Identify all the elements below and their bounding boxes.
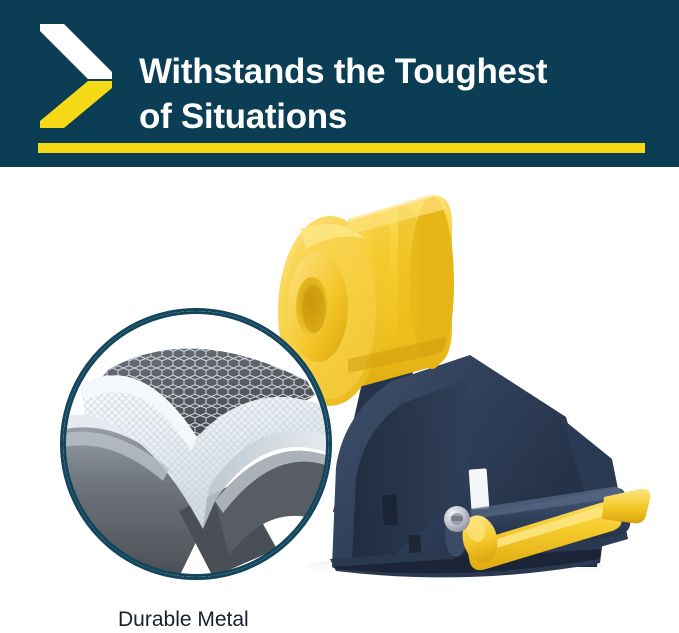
product-stage: Durable Metal xyxy=(0,167,679,633)
page-title-line-1: Withstands the Toughest xyxy=(139,49,659,94)
durable-metal-callout xyxy=(60,308,332,580)
frame-slot-2 xyxy=(382,495,398,526)
callout-caption: Durable Metal xyxy=(118,607,249,633)
chevron-lower-stroke xyxy=(40,81,112,128)
header-banner: Withstands the Toughest of Situations xyxy=(0,0,679,167)
chevron-upper-stroke xyxy=(40,24,112,79)
hub-rib-1 xyxy=(398,206,418,361)
banner-accent-rule xyxy=(38,143,645,153)
page-title: Withstands the Toughest of Situations xyxy=(139,49,659,139)
frame-slot-1 xyxy=(469,468,490,509)
chevron-logo-icon xyxy=(38,22,116,130)
hub-centre-hole-shadow xyxy=(302,285,326,333)
page-title-line-2: of Situations xyxy=(139,94,659,139)
hub-mount-screw-slot xyxy=(451,516,463,521)
